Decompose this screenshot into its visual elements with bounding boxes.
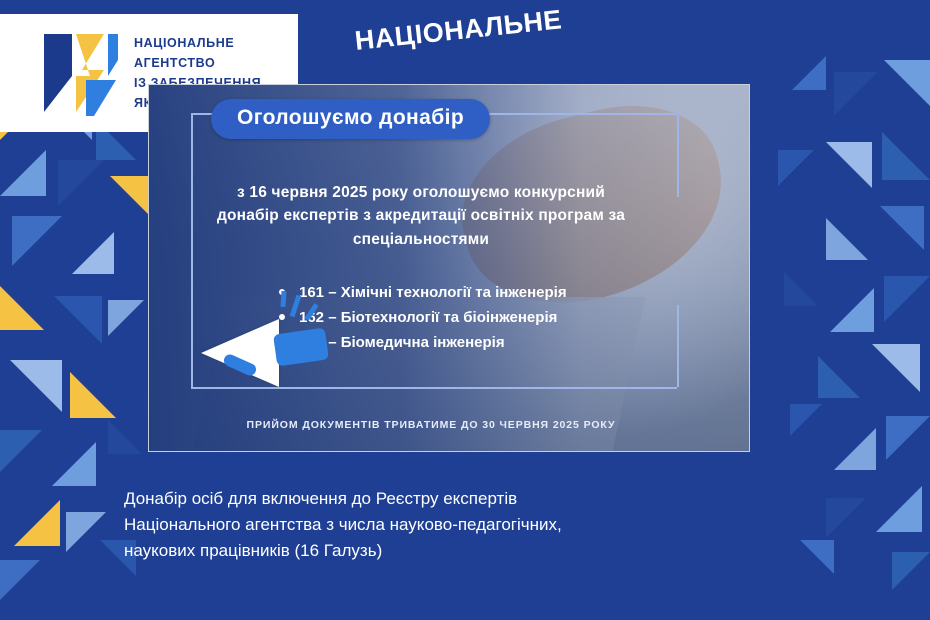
poster-footer-text: ПРИЙОМ ДОКУМЕНТІВ ТРИВАТИМЕ ДО 30 ЧЕРВНЯ… [201,419,661,431]
caption-line-2: Національного агентства з числа науково-… [124,512,784,538]
slide-canvas: НАЦІОНАЛЬНЕ НАЦІОНАЛЬНЕ АГЕНТСТВО ІЗ ЗАБ… [0,0,930,620]
caption-line-3: наукових працівників (16 Галузь) [124,538,784,564]
background-headline: НАЦІОНАЛЬНЕ [353,4,563,57]
announcement-poster: Оголошуємо донабір з 16 червня 2025 року… [148,84,750,452]
megaphone-icon [197,289,347,399]
poster-lead-text: з 16 червня 2025 року оголошуємо конкурс… [211,181,631,251]
caption-line-1: Донабір осіб для включення до Реєстру ек… [124,486,784,512]
logo-line-1: НАЦІОНАЛЬНЕ [134,33,290,53]
slide-caption: Донабір осіб для включення до Реєстру ек… [124,486,784,563]
logo-line-2: АГЕНТСТВО [134,53,290,73]
poster-badge: Оголошуємо донабір [211,99,490,139]
nazyavo-flag-logo-icon [42,30,120,116]
